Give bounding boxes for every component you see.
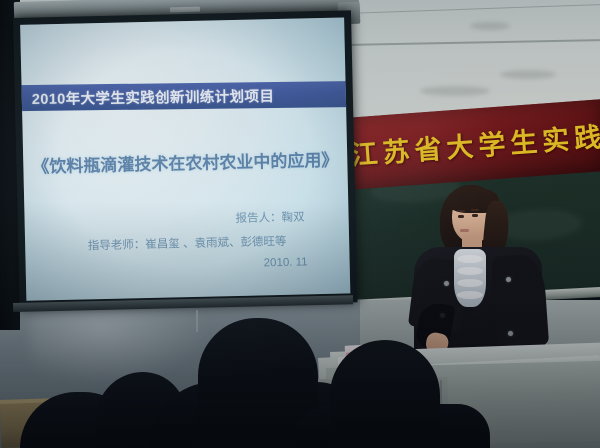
presenter-coat-button <box>444 281 449 286</box>
screen-pull-cord <box>196 310 198 332</box>
projection-screen: 2010年大学生实践创新训练计划项目 《饮料瓶滴灌技术在农村农业中的应用》 报告… <box>13 10 358 310</box>
presenter-eye-left <box>458 215 464 218</box>
presenter-coat-button <box>506 277 511 282</box>
slide-advisors-line: 指导老师：崔昌玺 、袁雨斌、彭德旺等 <box>25 231 349 254</box>
wall-smudge <box>470 22 510 30</box>
slide-surface: 2010年大学生实践创新训练计划项目 《饮料瓶滴灌技术在农村农业中的应用》 报告… <box>20 17 350 300</box>
presenter-brow-left <box>457 210 465 212</box>
slide-banner: 2010年大学生实践创新训练计划项目 <box>20 81 350 111</box>
presenter-blouse-ruffle <box>457 291 483 299</box>
slide-date-line: 2010. 11 <box>26 255 350 274</box>
slide-title: 《饮料瓶滴灌技术在农村农业中的应用》 <box>23 145 347 177</box>
presenter-coat-button <box>508 331 513 336</box>
presenter-brow-right <box>471 209 479 211</box>
presenter-blouse-ruffle <box>457 255 483 263</box>
audience-head <box>330 340 440 448</box>
wall-smudge <box>500 70 556 79</box>
roller-brand-label <box>170 7 200 13</box>
wall-light-haze <box>30 305 210 385</box>
presenter-mouth <box>460 229 469 232</box>
slide-banner-text: 2010年大学生实践创新训练计划项目 <box>20 85 274 109</box>
presenter-blouse-ruffle <box>457 279 483 287</box>
presenter-blouse-ruffle <box>457 267 483 275</box>
classroom-photo: 江苏省大学生实践创 2010年大学生实践创新训练计划项目 《饮料瓶滴灌技术在农村… <box>0 0 600 448</box>
slide-presenter-line: 报告人：鞠双 <box>24 207 348 230</box>
wall-smudge <box>420 86 490 96</box>
presenter-eye-right <box>472 214 478 217</box>
